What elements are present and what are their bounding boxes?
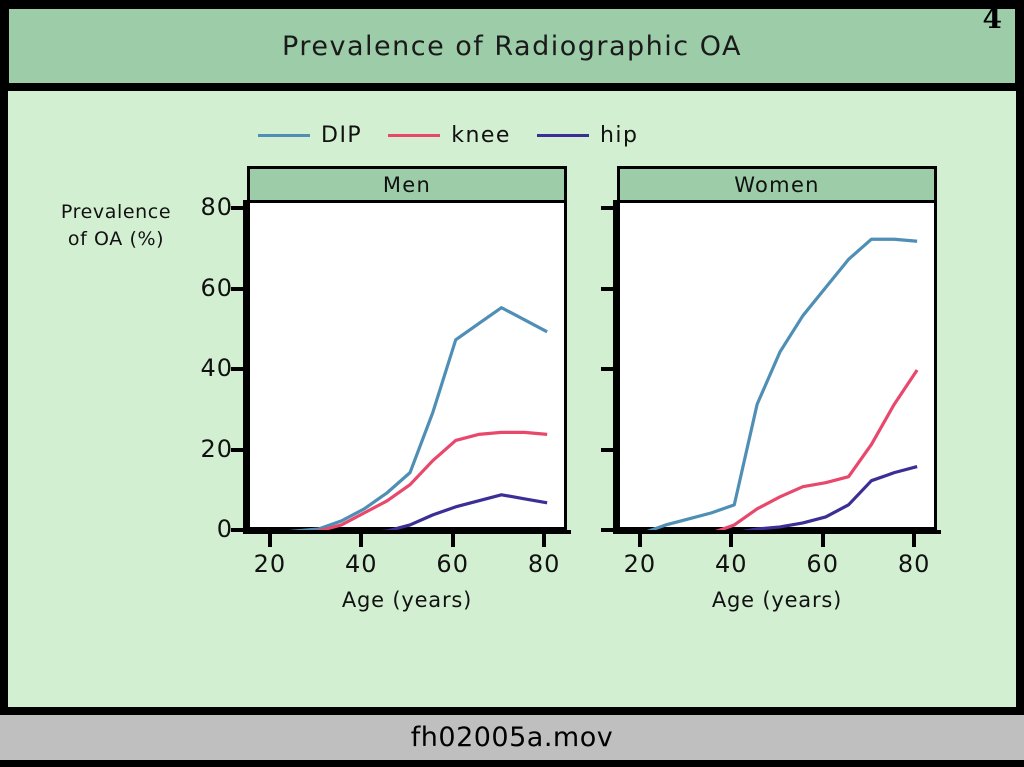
y-tick-mark-20: [231, 448, 244, 452]
x-axis-title-men: Age (years): [247, 588, 567, 612]
series-line-knee: [643, 370, 917, 533]
y-tick-mark-40: [231, 367, 244, 371]
x-tick-label-20: 20: [242, 550, 298, 578]
y-tick-mark-20: [601, 448, 614, 452]
legend-item-knee: knee: [388, 123, 511, 148]
presentation-slide: Prevalence of Radiographic OA 4 DIP knee…: [0, 0, 1024, 767]
panel-strip-women: Women: [617, 166, 937, 200]
y-tick-mark-80: [231, 206, 244, 210]
y-tick-label-20: 20: [183, 435, 233, 463]
y-tick-mark-60: [601, 287, 614, 291]
series-line-dip: [273, 308, 547, 533]
x-tick-label-40: 40: [333, 550, 389, 578]
series-line-hip: [273, 495, 547, 533]
x-tick-label-60: 60: [425, 550, 481, 578]
x-tick-label-40: 40: [703, 550, 759, 578]
x-tick-mark-40: [729, 534, 733, 547]
x-tick-mark-40: [359, 534, 363, 547]
y-axis-tick-labels: 020406080: [158, 91, 233, 707]
x-axis-title-women: Age (years): [617, 588, 937, 612]
legend-swatch-dip: [258, 134, 310, 137]
y-tick-label-40: 40: [183, 354, 233, 382]
slide-title-bar: Prevalence of Radiographic OA: [6, 6, 1018, 86]
panel-strip-men: Men: [247, 166, 567, 200]
legend-label-knee: knee: [451, 123, 511, 148]
page-title: Prevalence of Radiographic OA: [282, 31, 742, 62]
legend-item-hip: hip: [537, 123, 639, 148]
legend-swatch-hip: [537, 134, 589, 137]
x-axis-line-women: [613, 530, 941, 534]
y-tick-mark-80: [601, 206, 614, 210]
plot-area-men: [247, 200, 567, 530]
slide-body: DIP knee hip Prevalence of OA (%) 020406…: [6, 89, 1018, 709]
legend-label-dip: DIP: [321, 123, 362, 148]
plot-area-women: [617, 200, 937, 530]
y-tick-mark-0: [231, 528, 244, 532]
series-line-dip: [643, 239, 917, 533]
x-tick-label-60: 60: [795, 550, 851, 578]
y-tick-label-60: 60: [183, 274, 233, 302]
x-tick-mark-80: [542, 534, 546, 547]
x-tick-mark-60: [821, 534, 825, 547]
x-tick-mark-20: [268, 534, 272, 547]
panel-strip-label: Women: [734, 173, 820, 197]
panel-strip-label: Men: [383, 173, 431, 197]
series-line-hip: [643, 467, 917, 533]
legend-label-hip: hip: [600, 123, 639, 148]
x-tick-label-80: 80: [516, 550, 572, 578]
series-line-knee: [273, 432, 547, 533]
y-tick-mark-0: [601, 528, 614, 532]
chart-legend: DIP knee hip: [258, 123, 665, 148]
y-tick-mark-60: [231, 287, 244, 291]
slide-number: 4: [983, 2, 1002, 35]
x-tick-mark-20: [638, 534, 642, 547]
y-tick-mark-40: [601, 367, 614, 371]
y-tick-label-0: 0: [183, 515, 233, 543]
legend-item-dip: DIP: [258, 123, 362, 148]
x-tick-mark-80: [912, 534, 916, 547]
x-tick-mark-60: [451, 534, 455, 547]
legend-swatch-knee: [388, 134, 440, 137]
x-tick-label-80: 80: [886, 550, 942, 578]
chart-panel-men: Men: [247, 166, 567, 530]
status-bar: fh02005a.mov: [0, 713, 1024, 763]
status-bar-filename: fh02005a.mov: [411, 722, 613, 753]
x-tick-label-20: 20: [612, 550, 668, 578]
x-axis-line-men: [243, 530, 571, 534]
y-tick-label-80: 80: [183, 193, 233, 221]
chart-panel-women: Women: [617, 166, 937, 530]
